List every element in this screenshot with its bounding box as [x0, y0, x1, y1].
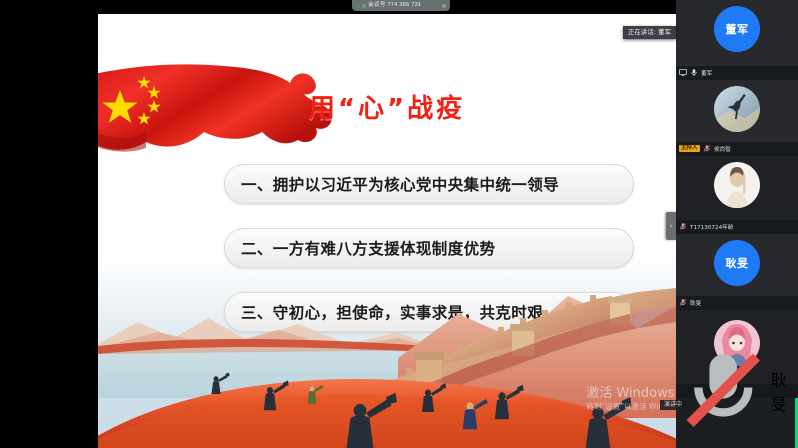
slide-bullet-2: 二、一方有难八方支援体现制度优势 — [224, 228, 634, 268]
top-bar: 会议号 774 366 731 — [0, 0, 798, 13]
host-badge: 主持人 — [679, 145, 700, 153]
avatar — [714, 162, 760, 208]
participant-name: 耿旻 — [771, 367, 795, 415]
participant-namebar: 主持人 侯尚智 — [676, 142, 798, 155]
participant-name: 侯尚智 — [714, 144, 731, 152]
participant-video-rail[interactable]: 董军 董军 — [676, 0, 798, 448]
participant-tile[interactable]: 主持人 侯尚智 — [676, 80, 798, 156]
meeting-id-label: 会议号 774 366 731 — [368, 0, 421, 10]
microphone-muted-icon — [679, 222, 687, 231]
participant-namebar: 董军 — [676, 66, 798, 79]
slide-title: 用“心”战疫 — [98, 88, 676, 125]
screen-share-icon — [679, 68, 687, 77]
participant-tile[interactable]: 耿旻 耿旻 — [676, 234, 798, 310]
slide-bullet-1: 一、拥护以习近平为核心党中央集中统一领导 — [224, 164, 634, 204]
participant-name: T17130724年龄 — [690, 222, 733, 230]
chevron-right-icon: › — [670, 223, 672, 230]
microphone-muted-icon — [679, 298, 687, 307]
avatar-initials: 耿旻 — [726, 255, 749, 271]
meeting-id-pill[interactable]: 会议号 774 366 731 — [352, 0, 450, 11]
meeting-app-window: 会议号 774 366 731 — [0, 0, 798, 448]
participant-namebar: T17130724年龄 — [676, 220, 798, 233]
avatar — [714, 86, 760, 132]
collapse-panel-handle[interactable]: › — [666, 212, 676, 240]
participant-tile[interactable]: T17130724年龄 — [676, 156, 798, 234]
avatar-photo-bird — [714, 86, 760, 132]
slide-bullet-2-text: 二、一方有难八方支援体现制度优势 — [241, 237, 495, 259]
participant-tile[interactable]: 耿旻 — [676, 310, 798, 398]
avatar: 耿旻 — [714, 240, 760, 286]
connection-status-dot — [356, 4, 360, 8]
shared-screen-slide[interactable]: 用“心”战疫 一、拥护以习近平为核心党中央集中统一领导 二、一方有难八方支援体现… — [98, 14, 676, 448]
signal-indicator-icon — [442, 4, 446, 8]
microphone-icon — [690, 68, 698, 77]
avatar-photo-person — [714, 162, 760, 208]
presenting-toast: 演讲中 — [660, 400, 686, 410]
participant-name: 耿旻 — [690, 298, 701, 306]
speaking-tooltip: 正在讲话: 董军 — [623, 26, 676, 39]
slide-bullet-1-text: 一、拥护以习近平为核心党中央集中统一领导 — [241, 173, 559, 195]
participant-namebar: 耿旻 — [676, 296, 798, 309]
slide-artwork — [98, 288, 676, 448]
microphone-muted-icon — [703, 144, 711, 153]
participant-namebar: 耿旻 — [676, 384, 798, 397]
avatar-initials: 董军 — [726, 21, 749, 37]
microphone-muted-icon — [679, 346, 768, 435]
connection-status-dot-secondary — [362, 4, 366, 8]
participant-name: 董军 — [701, 68, 712, 76]
